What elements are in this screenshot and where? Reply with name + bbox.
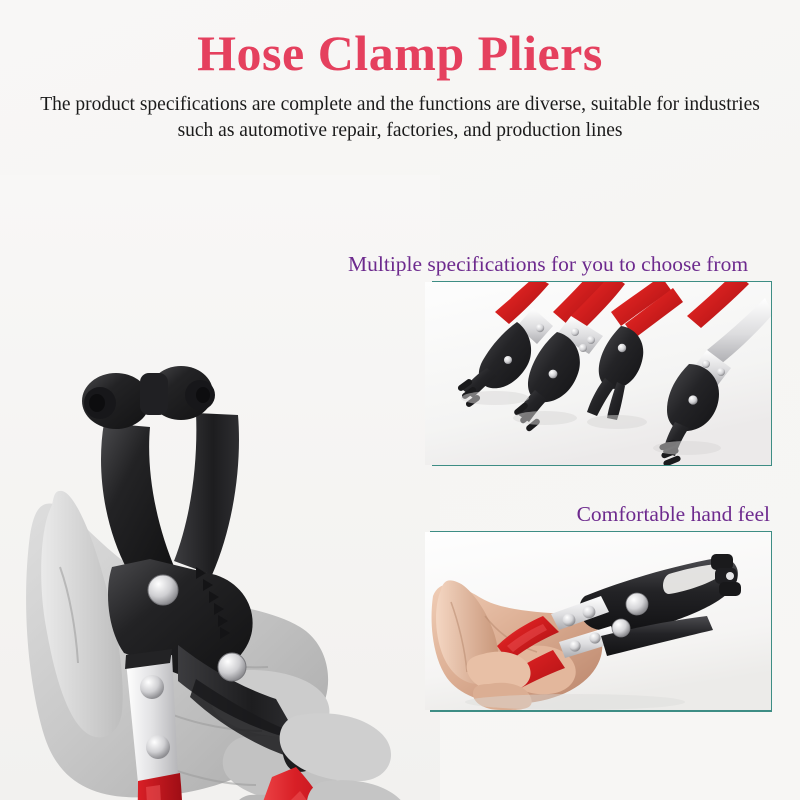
panel-comfort-photo — [425, 532, 771, 710]
hand-grip-illustration — [425, 532, 771, 710]
panel-specifications: Multiple specifications for you to choos… — [330, 250, 800, 475]
product-banner: Hose Clamp Pliers The product specificat… — [0, 0, 800, 800]
panel-comfort-heading: Comfortable hand feel — [577, 500, 770, 528]
page-subtitle: The product specifications are complete … — [40, 92, 760, 144]
four-pliers-illustration — [425, 282, 771, 465]
panel-comfort-rule-bottom — [430, 710, 772, 712]
page-title: Hose Clamp Pliers — [0, 22, 800, 84]
panel-specifications-photo — [425, 282, 771, 465]
panel-comfort: Comfortable hand feel — [330, 500, 800, 715]
panel-specifications-heading: Multiple specifications for you to choos… — [348, 250, 748, 278]
